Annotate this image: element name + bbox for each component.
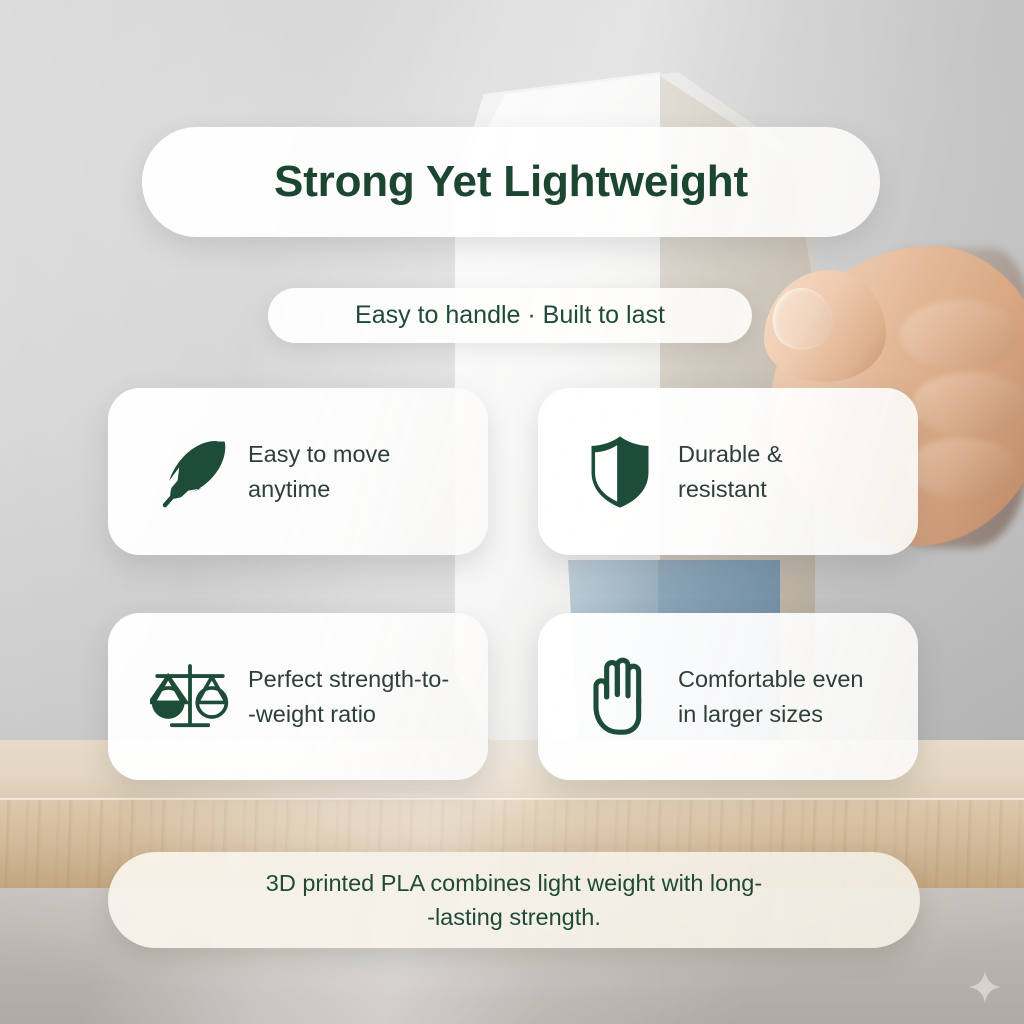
- feature-label-line2: resistant: [678, 472, 783, 506]
- feature-card-comfortable: Comfortable even in larger sizes: [538, 613, 918, 780]
- footer-text-line1: 3D printed PLA combines light weight wit…: [266, 866, 762, 900]
- feature-label-line2: anytime: [248, 472, 390, 506]
- feature-label-line1: Durable &: [678, 437, 783, 471]
- feature-label: Comfortable even in larger sizes: [678, 662, 864, 730]
- feature-card-durable: Durable & resistant: [538, 388, 918, 555]
- text-overlay: Strong Yet Lightweight Easy to handle · …: [0, 0, 1024, 1024]
- title-pill: Strong Yet Lightweight: [142, 127, 880, 237]
- balance-scales-icon: [150, 657, 230, 737]
- feature-label-line2: -weight ratio: [248, 697, 449, 731]
- open-hand-icon: [580, 657, 660, 737]
- feature-card-strength-to-weight: Perfect strength-to- -weight ratio: [108, 613, 488, 780]
- feature-label-line1: Comfortable even: [678, 662, 864, 696]
- footer-text: 3D printed PLA combines light weight wit…: [266, 866, 762, 934]
- subtitle-pill: Easy to handle · Built to last: [268, 288, 752, 343]
- page-title: Strong Yet Lightweight: [274, 157, 748, 207]
- feature-label: Easy to move anytime: [248, 437, 390, 505]
- footer-text-line2: -lasting strength.: [266, 900, 762, 934]
- feature-label: Durable & resistant: [678, 437, 783, 505]
- promo-graphic: Strong Yet Lightweight Easy to handle · …: [0, 0, 1024, 1024]
- sparkle-icon: [968, 970, 1002, 1004]
- feature-card-easy-to-move: Easy to move anytime: [108, 388, 488, 555]
- feature-label-line1: Easy to move: [248, 437, 390, 471]
- feather-icon: [150, 432, 230, 512]
- feature-label-line2: in larger sizes: [678, 697, 864, 731]
- shield-icon: [580, 432, 660, 512]
- footer-pill: 3D printed PLA combines light weight wit…: [108, 852, 920, 948]
- feature-label: Perfect strength-to- -weight ratio: [248, 662, 449, 730]
- feature-label-line1: Perfect strength-to-: [248, 662, 449, 696]
- page-subtitle: Easy to handle · Built to last: [355, 301, 665, 330]
